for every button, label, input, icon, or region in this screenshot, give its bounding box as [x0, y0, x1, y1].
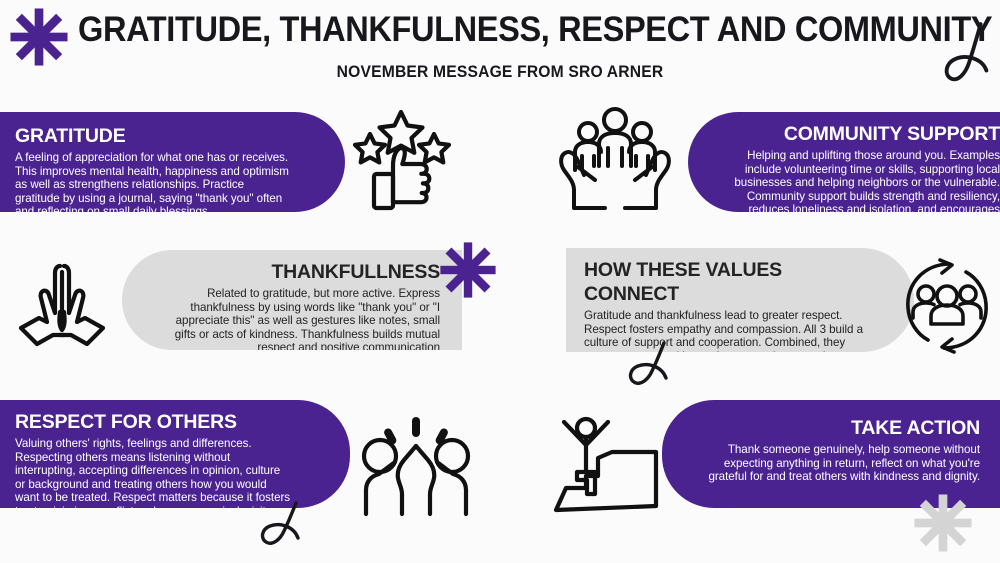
- cycle-group-icon: [898, 254, 996, 358]
- card-thankfullness: THANKFULLNESS Related to gratitude, but …: [122, 250, 462, 350]
- card-gratitude-heading: GRATITUDE: [15, 124, 290, 148]
- card-take-action-body: Thank someone genuinely, help someone wi…: [686, 443, 980, 484]
- person-achievement-icon: [552, 414, 662, 518]
- asterisk-icon: [8, 6, 70, 68]
- card-gratitude-body: A feeling of appreciation for what one h…: [15, 151, 290, 212]
- header: GRATITUDE, THANKFULNESS, RESPECT AND COM…: [0, 0, 1000, 100]
- high-five-icon: [358, 414, 474, 518]
- card-community-support-heading: COMMUNITY SUPPORT: [710, 122, 1000, 146]
- card-gratitude: GRATITUDE A feeling of appreciation for …: [0, 112, 345, 212]
- thumbs-up-stars-icon: [348, 104, 454, 216]
- card-thankfullness-body: Related to gratitude, but more active. E…: [152, 287, 440, 350]
- card-respect-for-others-heading: RESPECT FOR OTHERS: [15, 410, 292, 434]
- card-how-values-connect-heading: HOW THESE VALUES CONNECT: [584, 258, 874, 306]
- page-subtitle: NOVEMBER MESSAGE FROM SRO ARNER: [40, 62, 960, 82]
- card-respect-for-others-body: Valuing others' rights, feelings and dif…: [15, 437, 292, 508]
- card-take-action: TAKE ACTION Thank someone genuinely, hel…: [662, 400, 1000, 508]
- praying-hands-icon: [14, 254, 110, 358]
- card-how-values-connect: HOW THESE VALUES CONNECT Gratitude and t…: [566, 248, 914, 352]
- hands-holding-group-icon: [556, 104, 674, 216]
- infographic-canvas: GRATITUDE, THANKFULNESS, RESPECT AND COM…: [0, 0, 1000, 563]
- card-how-values-connect-body: Gratitude and thankfulness lead to great…: [584, 309, 874, 352]
- page-title: GRATITUDE, THANKFULNESS, RESPECT AND COM…: [78, 8, 915, 52]
- card-thankfullness-heading: THANKFULLNESS: [152, 260, 440, 284]
- card-take-action-heading: TAKE ACTION: [686, 416, 980, 440]
- card-community-support-body: Helping and uplifting those around you. …: [710, 149, 1000, 212]
- card-respect-for-others: RESPECT FOR OTHERS Valuing others' right…: [0, 400, 350, 508]
- card-community-support: COMMUNITY SUPPORT Helping and uplifting …: [688, 112, 1000, 212]
